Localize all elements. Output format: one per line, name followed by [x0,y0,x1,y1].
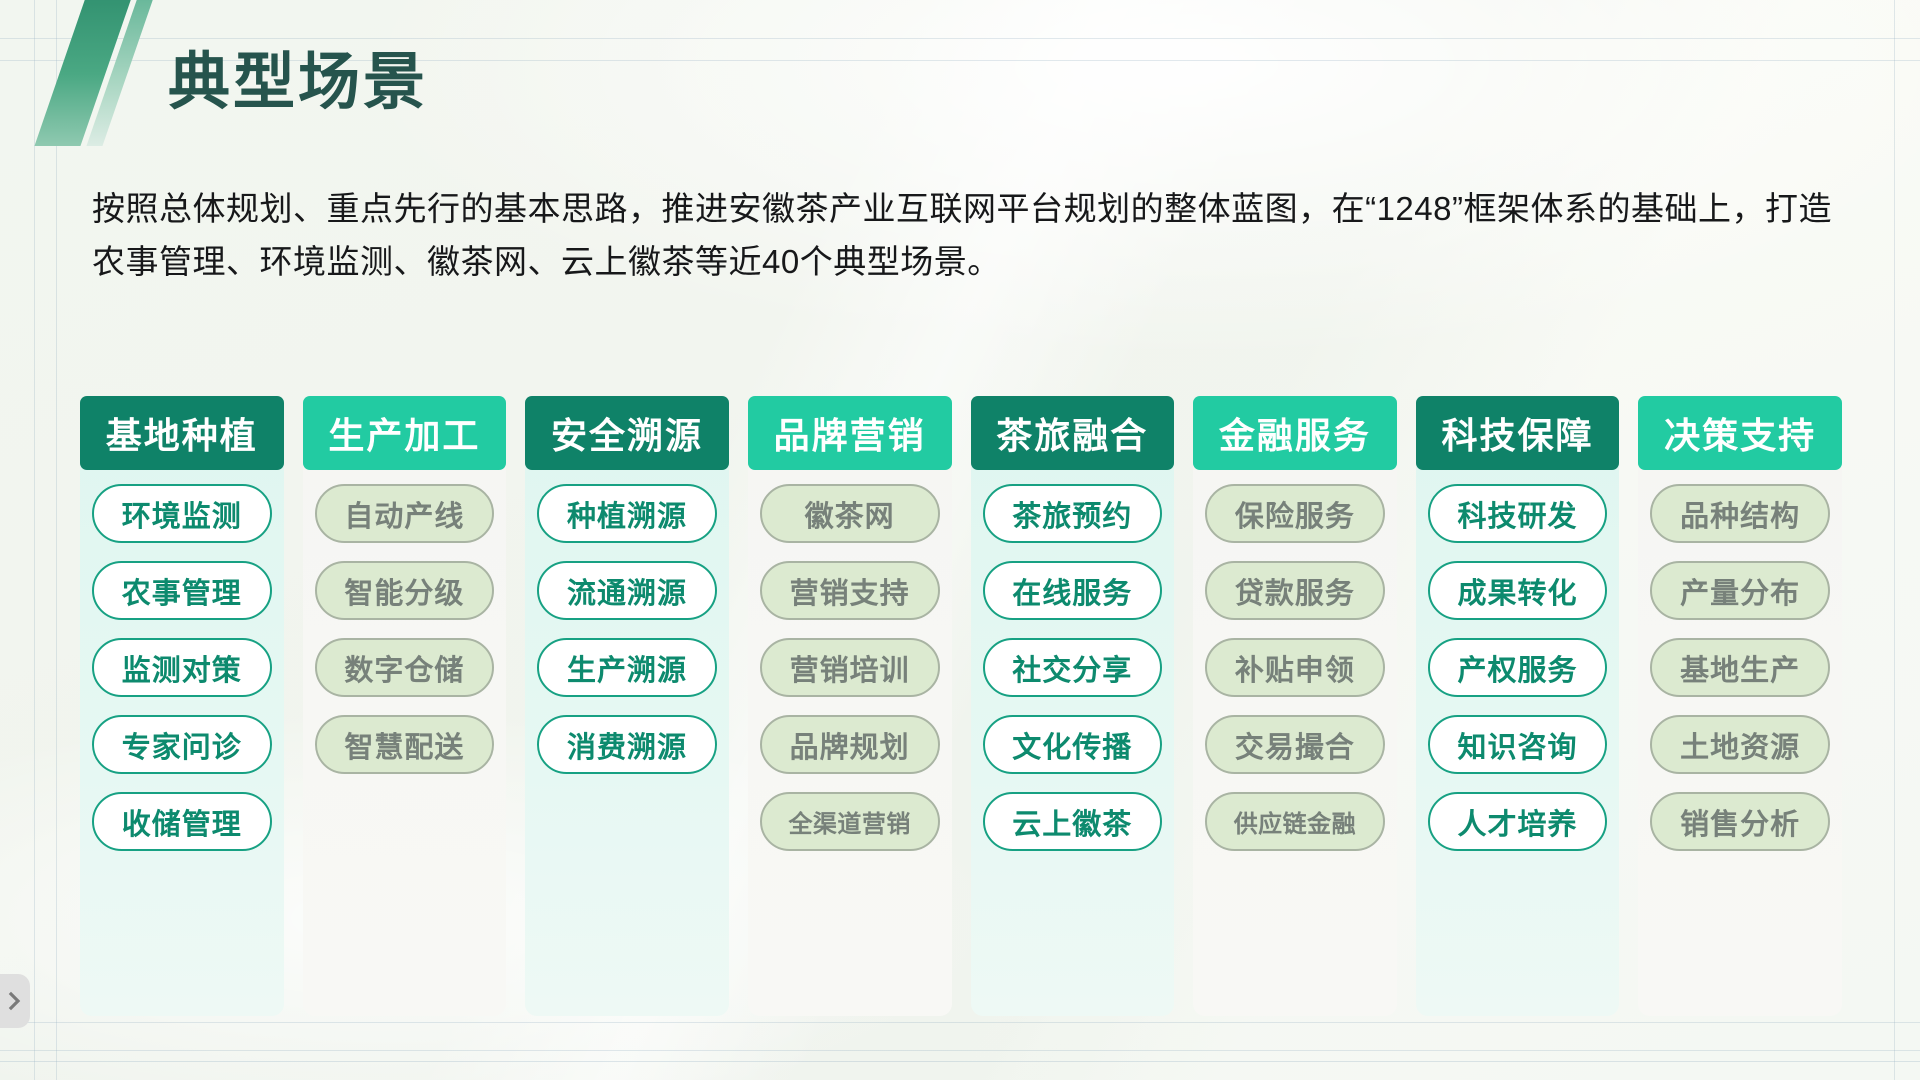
decorative-bar-secondary [86,0,157,146]
scenario-pill[interactable]: 营销培训 [760,638,940,697]
scenario-pill[interactable]: 茶旅预约 [983,484,1163,543]
page-title: 典型场景 [168,52,428,114]
scenario-column: 茶旅融合茶旅预约在线服务社交分享文化传播云上徽茶 [971,396,1175,1016]
decorative-parallelogram [40,0,160,146]
scenario-pill[interactable]: 品种结构 [1650,484,1830,543]
scenario-pill[interactable]: 监测对策 [92,638,272,697]
slide-canvas: 典型场景 按照总体规划、重点先行的基本思路，推进安徽茶产业互联网平台规划的整体蓝… [0,0,1920,1080]
scenario-pill[interactable]: 种植溯源 [537,484,717,543]
guide-line-vertical [56,0,57,1080]
column-item-list: 保险服务贷款服务补贴申领交易撮合供应链金融 [1193,484,1397,851]
scenario-pill[interactable]: 智能分级 [315,561,495,620]
scenario-pill[interactable]: 品牌规划 [760,715,940,774]
scenario-pill[interactable]: 土地资源 [1650,715,1830,774]
scenario-pill[interactable]: 数字仓储 [315,638,495,697]
scenario-pill[interactable]: 全渠道营销 [760,792,940,851]
scenario-pill[interactable]: 环境监测 [92,484,272,543]
scenario-pill[interactable]: 智慧配送 [315,715,495,774]
column-header[interactable]: 科技保障 [1416,396,1620,470]
column-header[interactable]: 安全溯源 [525,396,729,470]
scenario-pill[interactable]: 徽茶网 [760,484,940,543]
column-header[interactable]: 基地种植 [80,396,284,470]
scenario-pill[interactable]: 社交分享 [983,638,1163,697]
scenario-column: 品牌营销徽茶网营销支持营销培训品牌规划全渠道营销 [748,396,952,1016]
scenario-pill[interactable]: 云上徽茶 [983,792,1163,851]
scenario-pill[interactable]: 补贴申领 [1205,638,1385,697]
scenario-pill[interactable]: 人才培养 [1428,792,1608,851]
scenario-pill[interactable]: 流通溯源 [537,561,717,620]
scenario-column: 安全溯源种植溯源流通溯源生产溯源消费溯源 [525,396,729,1016]
guide-line-vertical [34,0,35,1080]
guide-line-horizontal [0,38,1920,39]
scenario-column: 生产加工自动产线智能分级数字仓储智慧配送 [303,396,507,1016]
scenario-pill[interactable]: 供应链金融 [1205,792,1385,851]
scenario-pill[interactable]: 自动产线 [315,484,495,543]
scenario-pill[interactable]: 科技研发 [1428,484,1608,543]
column-header[interactable]: 生产加工 [303,396,507,470]
scenario-column: 金融服务保险服务贷款服务补贴申领交易撮合供应链金融 [1193,396,1397,1016]
scenario-pill[interactable]: 保险服务 [1205,484,1385,543]
decorative-bar-primary [34,0,135,146]
scenario-pill[interactable]: 销售分析 [1650,792,1830,851]
scenario-pill[interactable]: 在线服务 [983,561,1163,620]
scenario-matrix: 基地种植环境监测农事管理监测对策专家问诊收储管理生产加工自动产线智能分级数字仓储… [80,396,1842,1016]
intro-paragraph: 按照总体规划、重点先行的基本思路，推进安徽茶产业互联网平台规划的整体蓝图，在“1… [92,182,1832,289]
column-header[interactable]: 茶旅融合 [971,396,1175,470]
scenario-pill[interactable]: 贷款服务 [1205,561,1385,620]
column-header[interactable]: 品牌营销 [748,396,952,470]
scenario-pill[interactable]: 专家问诊 [92,715,272,774]
scenario-pill[interactable]: 农事管理 [92,561,272,620]
scenario-pill[interactable]: 消费溯源 [537,715,717,774]
sidebar-expand-toggle[interactable] [0,974,30,1028]
scenario-column: 决策支持品种结构产量分布基地生产土地资源销售分析 [1638,396,1842,1016]
scenario-pill[interactable]: 知识咨询 [1428,715,1608,774]
scenario-pill[interactable]: 生产溯源 [537,638,717,697]
scenario-pill[interactable]: 营销支持 [760,561,940,620]
guide-line-vertical [1894,0,1895,1080]
column-item-list: 环境监测农事管理监测对策专家问诊收储管理 [80,484,284,851]
scenario-pill[interactable]: 收储管理 [92,792,272,851]
scenario-pill[interactable]: 文化传播 [983,715,1163,774]
scenario-pill[interactable]: 产量分布 [1650,561,1830,620]
scenario-pill[interactable]: 交易撮合 [1205,715,1385,774]
column-header[interactable]: 决策支持 [1638,396,1842,470]
chevron-right-icon [7,991,23,1011]
scenario-pill[interactable]: 基地生产 [1650,638,1830,697]
scenario-column: 基地种植环境监测农事管理监测对策专家问诊收储管理 [80,396,284,1016]
column-item-list: 品种结构产量分布基地生产土地资源销售分析 [1638,484,1842,851]
guide-line-horizontal [0,1050,1920,1051]
column-item-list: 科技研发成果转化产权服务知识咨询人才培养 [1416,484,1620,851]
scenario-column: 科技保障科技研发成果转化产权服务知识咨询人才培养 [1416,396,1620,1016]
column-item-list: 徽茶网营销支持营销培训品牌规划全渠道营销 [748,484,952,851]
column-item-list: 种植溯源流通溯源生产溯源消费溯源 [525,484,729,774]
scenario-pill[interactable]: 产权服务 [1428,638,1608,697]
footer-divider [0,1061,1920,1062]
column-item-list: 自动产线智能分级数字仓储智慧配送 [303,484,507,774]
scenario-pill[interactable]: 成果转化 [1428,561,1608,620]
column-item-list: 茶旅预约在线服务社交分享文化传播云上徽茶 [971,484,1175,851]
column-header[interactable]: 金融服务 [1193,396,1397,470]
guide-line-horizontal [0,1022,1920,1023]
